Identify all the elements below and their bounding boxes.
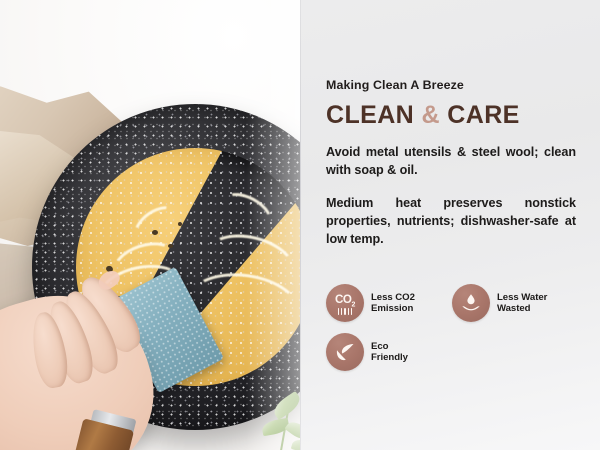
badge-label: Eco Friendly	[371, 341, 408, 363]
badge-row-2: Eco Friendly	[326, 333, 576, 371]
food-speck	[152, 230, 158, 235]
headline-word-care: CARE	[447, 101, 519, 129]
water-drop-hand-icon	[452, 284, 490, 322]
co2-emission-lines	[326, 308, 364, 315]
care-paragraph-2: Medium heat preserves nonstick propertie…	[326, 195, 576, 249]
care-paragraph-1: Avoid metal utensils & steel wool; clean…	[326, 144, 576, 180]
badge-less-co2-emission: CO2 Less CO2 Emission	[326, 284, 438, 322]
page-title: CLEAN & CARE	[326, 102, 582, 129]
food-speck	[168, 244, 173, 248]
co2-icon-text: CO	[335, 293, 352, 306]
eyebrow-text: Making Clean A Breeze	[326, 78, 582, 93]
product-photo	[0, 0, 300, 450]
eco-leaf-icon	[326, 333, 364, 371]
product-feature-banner: Making Clean A Breeze CLEAN & CARE Avoid…	[0, 0, 600, 450]
badge-label: Less Water Wasted	[497, 292, 547, 314]
badge-less-water-wasted: Less Water Wasted	[452, 284, 576, 322]
co2-icon: CO2	[326, 284, 364, 322]
panel-divider	[300, 0, 301, 450]
headline-ampersand: &	[421, 101, 439, 129]
benefit-badges: CO2 Less CO2 Emission Less Wate	[326, 284, 576, 382]
badge-eco-friendly: Eco Friendly	[326, 333, 438, 371]
food-speck	[178, 222, 182, 226]
badge-label: Less CO2 Emission	[371, 292, 415, 314]
headline-word-clean: CLEAN	[326, 101, 414, 129]
badge-row-1: CO2 Less CO2 Emission Less Wate	[326, 284, 576, 322]
copy-panel: Making Clean A Breeze CLEAN & CARE Avoid…	[300, 0, 600, 450]
